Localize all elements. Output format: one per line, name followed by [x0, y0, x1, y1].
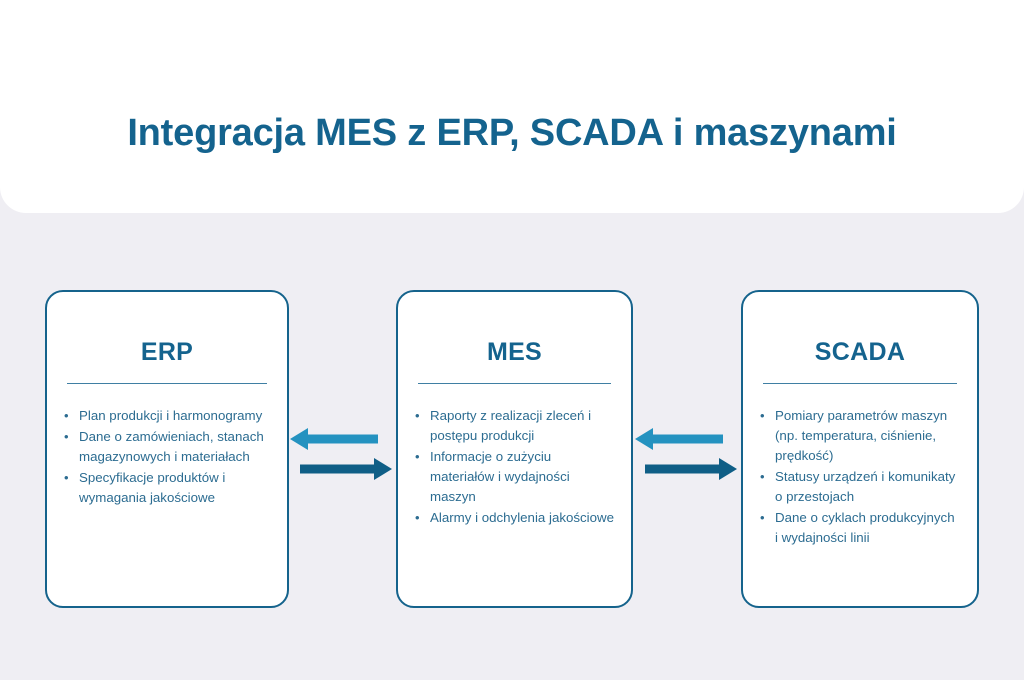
- connector-erp-mes-arrows: [286, 426, 396, 482]
- node-bullet-list-scada: Pomiary parametrów maszyn (np. temperatu…: [743, 406, 977, 548]
- node-title-mes: MES: [398, 292, 631, 367]
- arrow-right-dark-icon: [300, 458, 392, 480]
- node-bullet-list-erp: Plan produkcji i harmonogramy Dane o zam…: [47, 406, 287, 508]
- node-divider-mes: [418, 383, 611, 384]
- list-item: Statusy urządzeń i komunikaty o przestoj…: [773, 467, 961, 507]
- connector-mes-scada-arrows: [631, 426, 741, 482]
- list-item: Dane o zamówieniach, stanach magazynowyc…: [77, 427, 271, 467]
- connector-erp-mes: [286, 426, 396, 482]
- node-divider-erp: [67, 383, 267, 384]
- node-title-scada: SCADA: [743, 292, 977, 367]
- diagram-canvas: ERP Plan produkcji i harmonogramy Dane o…: [0, 213, 1024, 680]
- header-card: Integracja MES z ERP, SCADA i maszynami: [0, 0, 1024, 213]
- node-title-erp: ERP: [47, 292, 287, 367]
- connector-mes-scada: [631, 426, 741, 482]
- node-card-scada[interactable]: SCADA Pomiary parametrów maszyn (np. tem…: [741, 290, 979, 608]
- node-card-erp[interactable]: ERP Plan produkcji i harmonogramy Dane o…: [45, 290, 289, 608]
- list-item: Dane o cyklach produkcyjnych i wydajnośc…: [773, 508, 961, 548]
- list-item: Alarmy i odchylenia jakościowe: [428, 508, 615, 528]
- list-item: Informacje o zużyciu materiałów i wydajn…: [428, 447, 615, 507]
- list-item: Specyfikacje produktów i wymagania jakoś…: [77, 468, 271, 508]
- node-divider-scada: [763, 383, 957, 384]
- list-item: Plan produkcji i harmonogramy: [77, 406, 271, 426]
- arrow-left-light-icon: [635, 428, 723, 450]
- page-title: Integracja MES z ERP, SCADA i maszynami: [0, 112, 1024, 155]
- node-card-mes[interactable]: MES Raporty z realizacji zleceń i postęp…: [396, 290, 633, 608]
- list-item: Raporty z realizacji zleceń i postępu pr…: [428, 406, 615, 446]
- node-bullet-list-mes: Raporty z realizacji zleceń i postępu pr…: [398, 406, 631, 528]
- arrow-right-dark-icon: [645, 458, 737, 480]
- arrow-left-light-icon: [290, 428, 378, 450]
- list-item: Pomiary parametrów maszyn (np. temperatu…: [773, 406, 961, 466]
